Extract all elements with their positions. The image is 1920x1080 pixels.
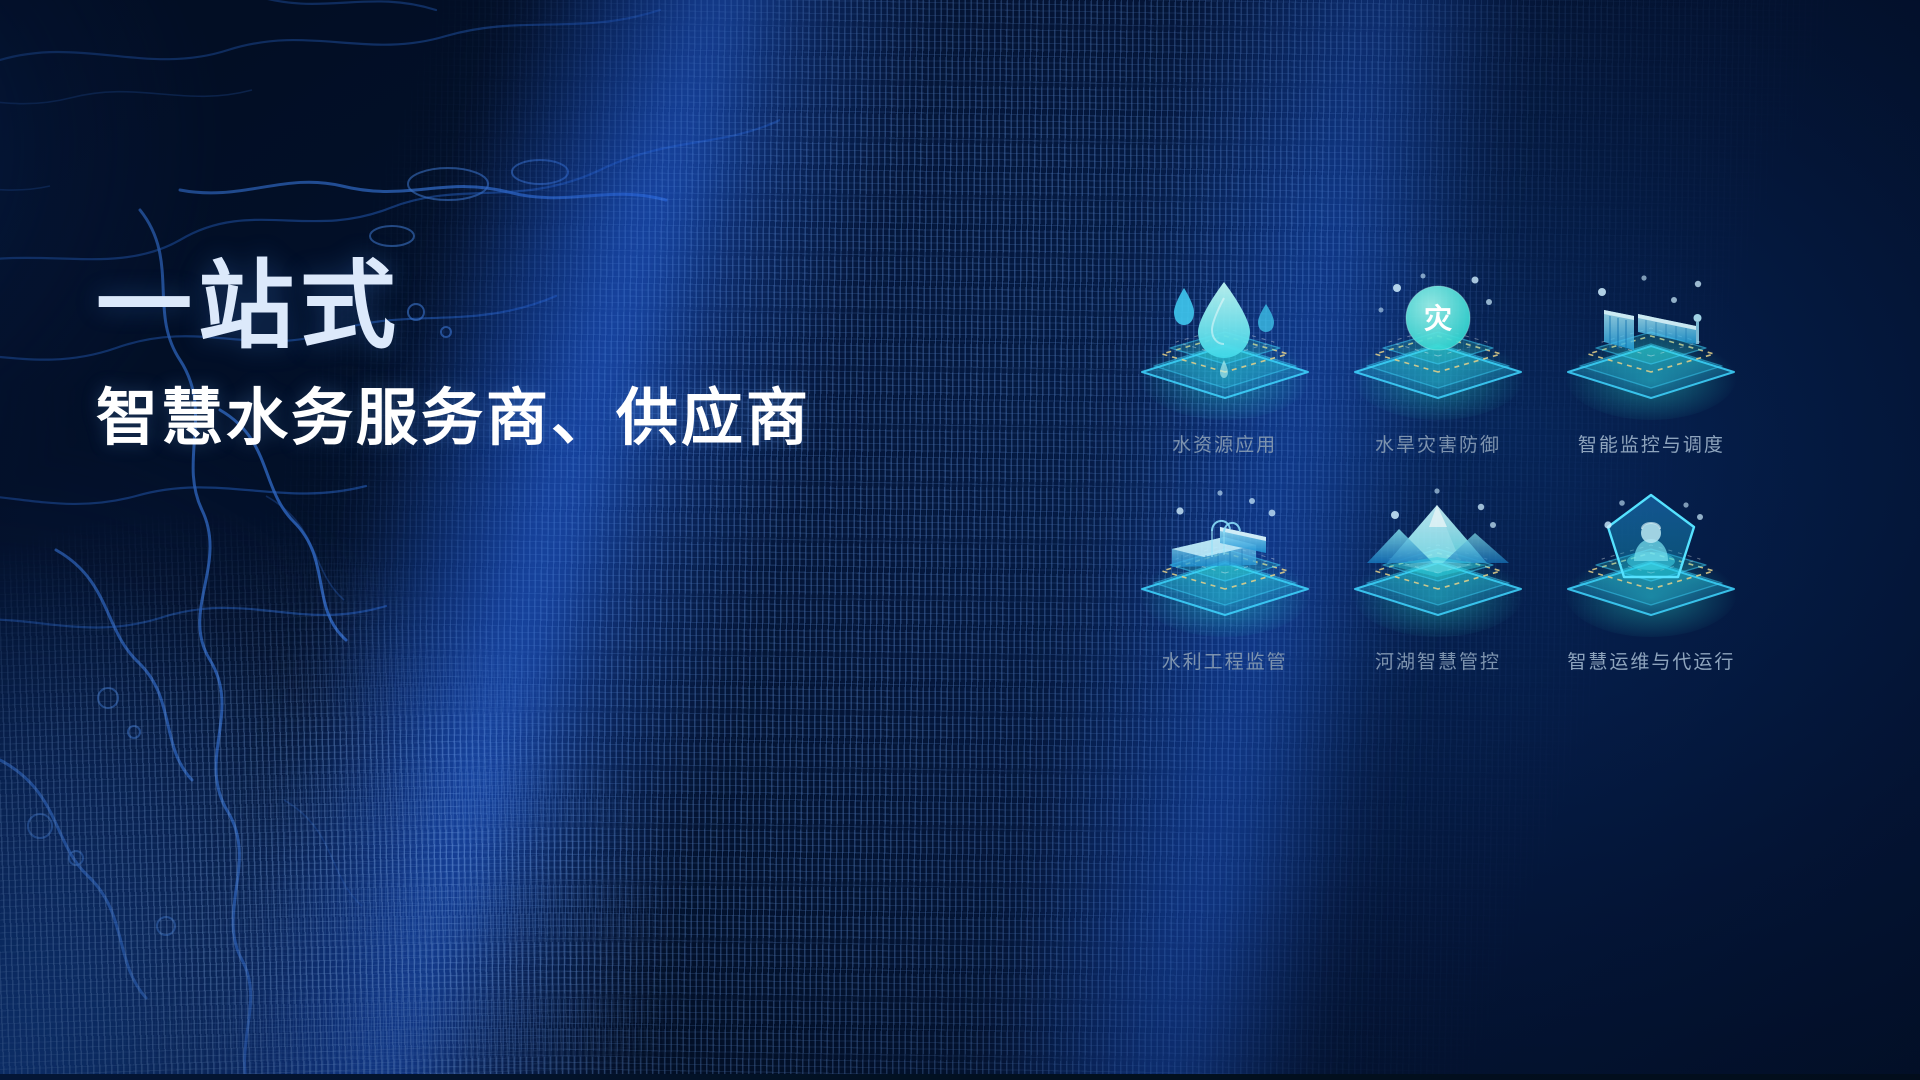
capability-label: 智慧运维与代运行 <box>1567 647 1735 674</box>
background-bottom-edge <box>0 1074 1920 1080</box>
capability-label: 智能监控与调度 <box>1578 430 1725 457</box>
disaster-badge-character: 灾 <box>1424 302 1452 334</box>
capability-grid: 水资源应用 <box>1118 268 1758 674</box>
river-lake-mountain-icon <box>1333 485 1543 645</box>
dam-monitoring-icon <box>1546 268 1756 428</box>
capability-card-smart-operations[interactable]: 智慧运维与代运行 <box>1545 485 1758 674</box>
capability-label: 河湖智慧管控 <box>1375 647 1501 674</box>
page-title: 一站式 <box>96 258 916 356</box>
capability-card-smart-monitoring-dispatch[interactable]: 智能监控与调度 <box>1545 268 1758 457</box>
capability-card-water-resource[interactable]: 水资源应用 <box>1118 268 1331 457</box>
operations-shield-icon <box>1546 485 1756 645</box>
capability-card-hydro-engineering-supervision[interactable]: 水利工程监管 <box>1118 485 1331 674</box>
capability-label: 水利工程监管 <box>1162 647 1288 674</box>
water-drop-icon <box>1120 268 1330 428</box>
page-subtitle: 智慧水务服务商、供应商 <box>96 384 916 453</box>
capability-card-flood-drought-defense[interactable]: 灾 水旱灾害防御 <box>1331 268 1544 457</box>
hero-headline: 一站式 智慧水务服务商、供应商 <box>96 258 916 453</box>
capability-card-river-lake-management[interactable]: 河湖智慧管控 <box>1331 485 1544 674</box>
hydro-engineering-icon <box>1120 485 1330 645</box>
capability-label: 水旱灾害防御 <box>1375 430 1501 457</box>
capability-label: 水资源应用 <box>1172 430 1277 457</box>
disaster-sphere-icon: 灾 <box>1333 268 1543 428</box>
